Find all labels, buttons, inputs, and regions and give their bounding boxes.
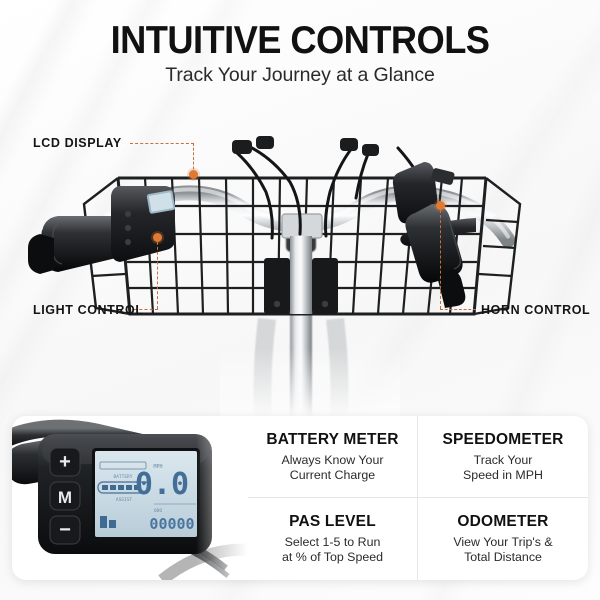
page-title: INTUITIVE CONTROLS (21, 20, 579, 62)
screenshot-root: INTUITIVE CONTROLS Track Your Journey at… (0, 0, 600, 600)
feature-desc-line1: Track Your (474, 453, 533, 467)
feature-desc: Always Know Your Current Charge (282, 453, 384, 483)
callout-label-horn-control: HORN CONTROL (481, 303, 590, 317)
bicycle-handlebar-illustration (0, 118, 600, 418)
leader-line-lcd-horizontal (130, 143, 194, 144)
feature-desc-line1: Select 1-5 to Run (285, 535, 381, 549)
feature-battery-meter: BATTERY METER Always Know Your Current C… (248, 416, 418, 498)
feature-desc: View Your Trip's & Total Distance (453, 535, 552, 565)
leader-line-horn-vertical (440, 205, 441, 309)
page-subtitle: Track Your Journey at a Glance (0, 63, 600, 87)
feature-desc-line2: Speed in MPH (463, 468, 543, 482)
feature-desc-line2: Current Charge (290, 468, 375, 482)
feature-grid: BATTERY METER Always Know Your Current C… (248, 416, 588, 580)
feature-odometer: ODOMETER View Your Trip's & Total Distan… (418, 498, 588, 580)
feature-desc: Track Your Speed in MPH (463, 453, 543, 483)
feature-desc: Select 1-5 to Run at % of Top Speed (282, 535, 383, 565)
marker-dot-lcd (189, 170, 198, 179)
feature-title: SPEEDOMETER (442, 431, 563, 449)
feature-card: + M − BATTERY ASSIST (12, 416, 588, 580)
leader-line-horn-horizontal (440, 309, 476, 310)
left-grip-assembly (28, 186, 176, 274)
feature-desc-line2: at % of Top Speed (282, 550, 383, 564)
feature-desc-line1: View Your Trip's & (453, 535, 552, 549)
marker-dot-horn (436, 201, 445, 210)
feature-pas-level: PAS LEVEL Select 1-5 to Run at % of Top … (248, 498, 418, 580)
feature-title: ODOMETER (457, 513, 548, 531)
callout-label-light-control: LIGHT CONTROL (33, 303, 144, 317)
feature-desc-line2: Total Distance (464, 550, 542, 564)
callout-label-lcd-display: LCD DISPLAY (33, 136, 122, 150)
feature-title: BATTERY METER (266, 431, 398, 449)
feature-speedometer: SPEEDOMETER Track Your Speed in MPH (418, 416, 588, 498)
lcd-display-photo: + M − BATTERY ASSIST (12, 416, 248, 580)
feature-desc-line1: Always Know Your (282, 453, 384, 467)
marker-dot-light (153, 233, 162, 242)
leader-line-light-vertical (157, 237, 158, 309)
feature-title: PAS LEVEL (289, 513, 376, 531)
